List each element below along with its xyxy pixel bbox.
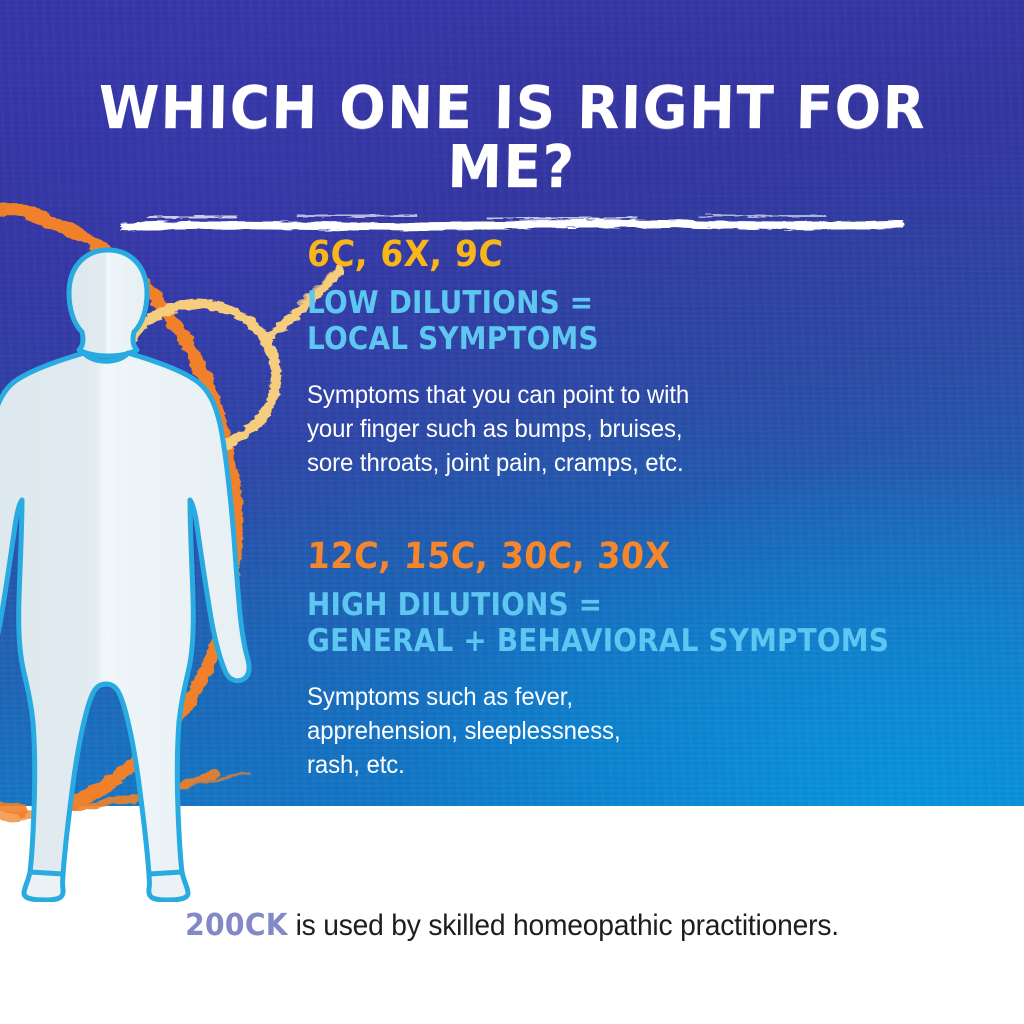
subhead-low: LOW DILUTIONS = LOCAL SYMPTOMS: [307, 285, 883, 358]
human-body-silhouette-icon: [0, 236, 256, 902]
brush-underline-icon: [117, 212, 907, 232]
footer-note-text: is used by skilled homeopathic practitio…: [288, 909, 839, 942]
dose-label-high: 12C, 15C, 30C, 30X: [306, 538, 915, 576]
body-copy-low: Symptoms that you can point to with your…: [307, 378, 921, 480]
dilution-block-low: 6C, 6X, 9C LOW DILUTIONS = LOCAL SYMPTOM…: [307, 236, 947, 480]
page-title: WHICH ONE IS RIGHT FOR ME?: [35, 78, 989, 196]
subhead-high: HIGH DILUTIONS = GENERAL + BEHAVIORAL SY…: [307, 587, 901, 660]
header: WHICH ONE IS RIGHT FOR ME?: [0, 78, 1024, 237]
footer-note: 200CK is used by skilled homeopathic pra…: [31, 908, 994, 943]
footer: 200CK is used by skilled homeopathic pra…: [0, 908, 1024, 943]
body-copy-high: Symptoms such as fever, apprehension, sl…: [307, 680, 941, 782]
footer-dose-label: 200CK: [185, 908, 288, 943]
infographic-poster: WHICH ONE IS RIGHT FOR ME? 6C, 6X, 9C LO…: [0, 0, 1024, 1024]
dilution-block-high: 12C, 15C, 30C, 30X HIGH DILUTIONS = GENE…: [307, 538, 967, 782]
dose-label-low: 6C, 6X, 9C: [306, 236, 897, 274]
